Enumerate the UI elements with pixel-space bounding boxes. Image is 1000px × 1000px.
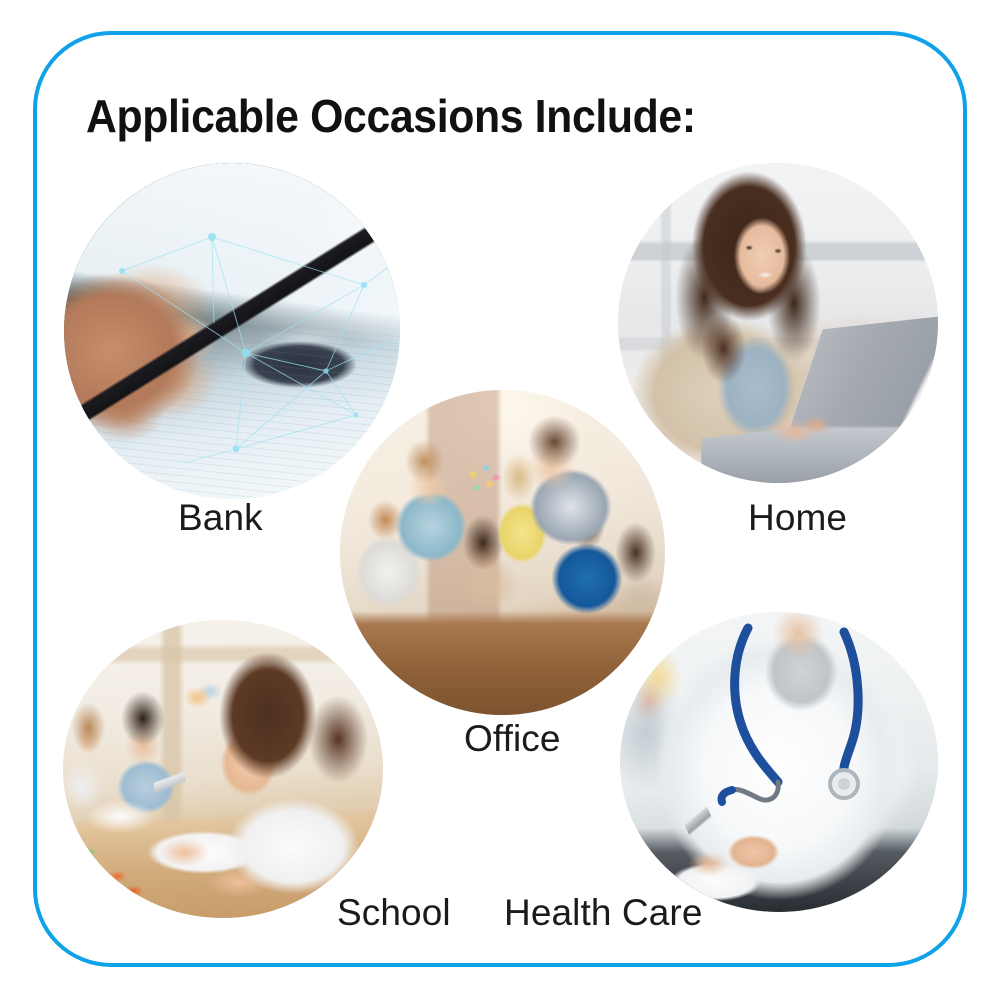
occasion-label-bank: Bank [178,497,263,539]
page-title: Applicable Occasions Include: [86,92,696,140]
desk-items-shapes [340,390,665,715]
occasion-label-school: School [337,892,451,934]
occasion-label-health-care: Health Care [504,892,703,934]
occasion-label-office: Office [464,718,561,760]
occasion-image-health-care [620,612,938,912]
occasion-image-office [340,390,665,715]
typing-hands-shape [618,163,938,483]
occasion-image-school [63,620,383,918]
letter-toys-shapes [63,620,383,918]
occasion-label-home: Home [748,497,847,539]
product-feature-card: Applicable Occasions Include: [0,0,1000,1000]
occasion-image-home [618,163,938,483]
doctor-hands-shape [620,612,938,912]
